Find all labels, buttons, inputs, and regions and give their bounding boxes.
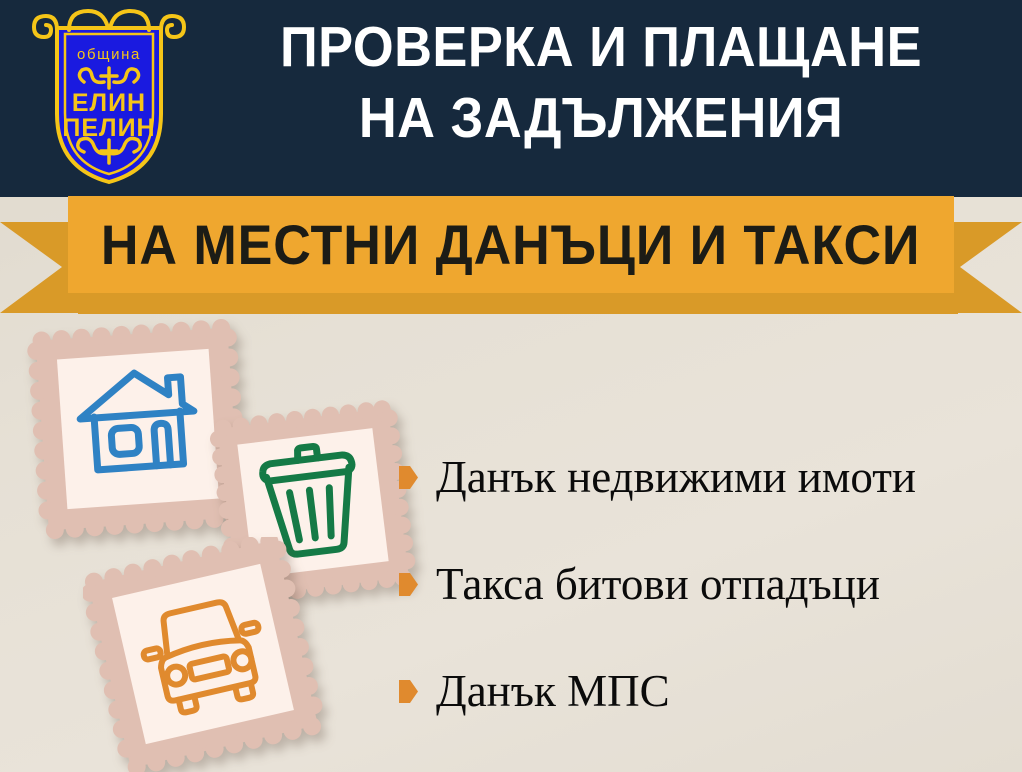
arrow-pentagon-bullet-icon: [399, 573, 418, 596]
list-item[interactable]: Данък МПС: [399, 638, 1009, 745]
arrow-pentagon-bullet-icon: [399, 466, 418, 489]
stamp-card-car: [83, 537, 323, 772]
arrow-pentagon-bullet-icon: [399, 680, 418, 703]
list-item-label: Данък МПС: [436, 669, 670, 714]
ribbon-label: НА МЕСТНИ ДАНЪЦИ И ТАКСИ: [101, 212, 921, 277]
tax-type-list: Данък недвижими имоти Такса битови отпад…: [399, 424, 1009, 745]
page-title-line-2: НА ЗАДЪЛЖЕНИЯ: [228, 89, 973, 147]
ribbon-panel: НА МЕСТНИ ДАНЪЦИ И ТАКСИ: [68, 196, 954, 293]
page-title: ПРОВЕРКА И ПЛАЩАНЕ НА ЗАДЪЛЖЕНИЯ: [196, 18, 1006, 147]
crest-word-top: община: [77, 46, 141, 63]
list-item[interactable]: Такса битови отпадъци: [399, 531, 1009, 638]
list-item-label: Данък недвижими имоти: [436, 455, 916, 500]
header-bar: община ЕЛИН ПЕЛИН ПРОВЕРКА И ПЛАЩАНЕ НА …: [0, 0, 1022, 197]
list-item-label: Такса битови отпадъци: [436, 562, 880, 607]
crest-word-line1: ЕЛИН: [72, 89, 146, 117]
crest-word-line2: ПЕЛИН: [62, 114, 155, 142]
ribbon-under-shadow: [78, 292, 958, 314]
coat-of-arms-shield-icon: община ЕЛИН ПЕЛИН: [28, 6, 190, 188]
list-item[interactable]: Данък недвижими имоти: [399, 424, 1009, 531]
page-title-line-1: ПРОВЕРКА И ПЛАЩАНЕ: [228, 18, 973, 76]
poster-root: община ЕЛИН ПЕЛИН ПРОВЕРКА И ПЛАЩАНЕ НА …: [0, 0, 1022, 772]
subtitle-ribbon: НА МЕСТНИ ДАНЪЦИ И ТАКСИ: [0, 196, 1022, 316]
